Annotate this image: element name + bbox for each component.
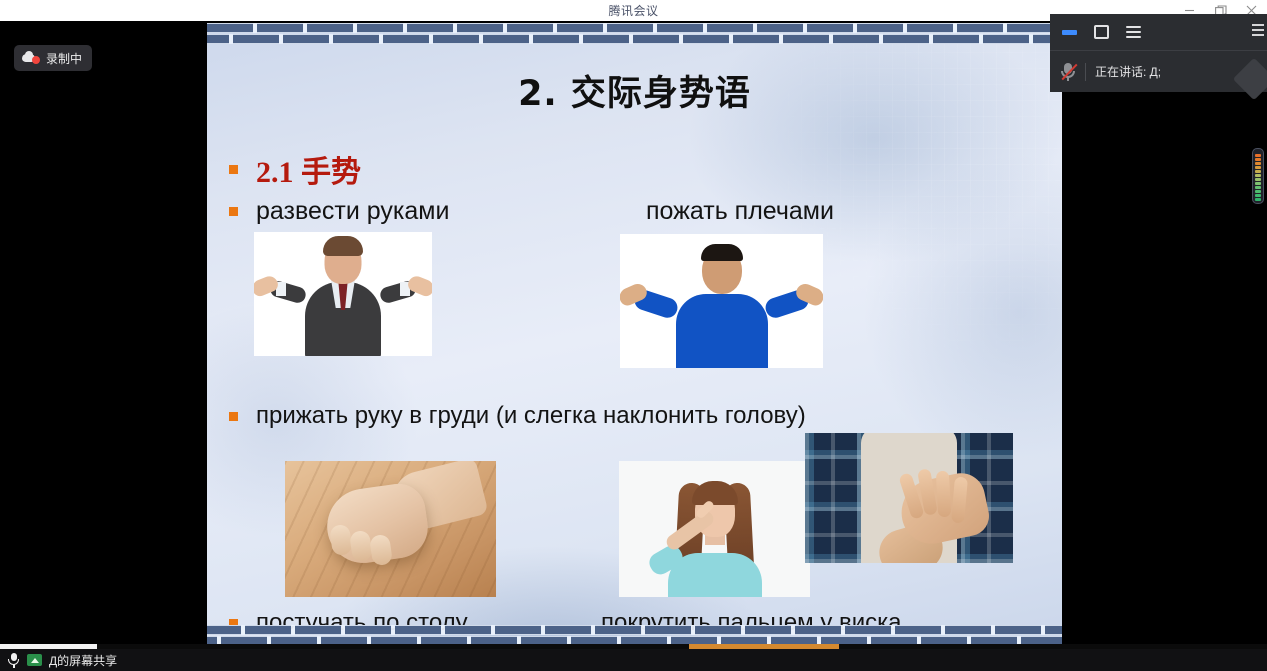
slide-section-label: 2.1 手势 <box>256 147 361 191</box>
microphone-icon[interactable] <box>8 653 20 668</box>
screen-share-icon[interactable] <box>27 654 42 666</box>
more-options-icon[interactable] <box>1252 24 1264 36</box>
bullet-square-icon <box>229 207 238 216</box>
restore-window-icon[interactable] <box>1090 21 1112 43</box>
meeting-window: 腾讯会议 录制中 <box>0 0 1267 671</box>
window-title: 腾讯会议 <box>608 2 658 19</box>
bullet-square-icon <box>229 619 238 628</box>
vertical-divider <box>1085 63 1086 81</box>
bullet-square-icon <box>229 412 238 421</box>
slide-image-woman-finger-at-temple <box>619 461 810 597</box>
slide-line-2-left: прижать руку в груди (и слегка наклонить… <box>256 402 806 430</box>
screen-share-label: Д的屏幕共享 <box>49 652 117 669</box>
floating-panel-toolbar <box>1050 14 1267 50</box>
slide-line-3-left: постучать по столу <box>256 609 468 636</box>
recording-badge[interactable]: 录制中 <box>14 45 92 71</box>
minimize-icon[interactable] <box>1058 21 1080 43</box>
slide-line-1: развести руками пожать плечами <box>229 197 449 226</box>
slide-line-2: прижать руку в груди (и слегка наклонить… <box>229 402 806 430</box>
slide-image-man-in-suit-shrugging <box>254 232 432 356</box>
slide-line-1-right: пожать плечами <box>646 197 834 226</box>
slide-line-1-left: развести руками <box>256 197 449 225</box>
slide-section-heading: 2.1 手势 <box>229 147 361 191</box>
cloud-record-icon <box>22 52 40 65</box>
slide-image-fist-knocking-on-table <box>285 461 496 597</box>
slide-title: 2. 交际身势语 <box>207 65 1062 116</box>
slide-line-3: постучать по столу покрутить пальцем у в… <box>229 609 468 637</box>
floating-control-panel: 正在讲话: Д; <box>1050 14 1267 92</box>
slide-image-man-in-blue-shirt-shrugging <box>620 234 823 368</box>
audio-level-meter[interactable] <box>1252 148 1264 204</box>
recording-label: 录制中 <box>46 50 82 67</box>
bullet-square-icon <box>229 165 238 174</box>
slide-image-hand-on-chest-plaid-shirt <box>805 433 1013 563</box>
microphone-muted-icon[interactable] <box>1060 62 1076 82</box>
presentation-slide: 2. 交际身势语 2.1 手势 развести руками пожать п… <box>207 23 1062 663</box>
hamburger-menu-icon[interactable] <box>1122 21 1144 43</box>
speaking-label: 正在讲话: Д; <box>1095 63 1161 80</box>
speaking-status-row: 正在讲话: Д; <box>1050 51 1267 92</box>
screen-share-status-bar: Д的屏幕共享 <box>0 649 1267 671</box>
slide-line-3-right: покрутить пальцем у виска <box>601 609 902 637</box>
